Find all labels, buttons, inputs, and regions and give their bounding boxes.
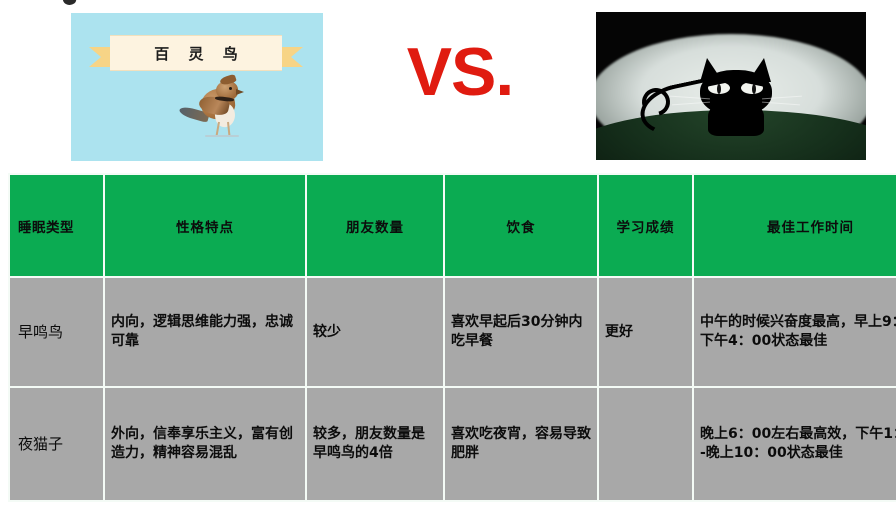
cell-best-hours: 晚上6：00左右最高效，下午1：00-晚上10：00状态最佳 bbox=[693, 387, 896, 501]
banner-plate: 百 灵 鸟 bbox=[110, 35, 282, 71]
stray-ink-mark bbox=[62, 0, 77, 6]
versus-label: VS. bbox=[395, 38, 525, 106]
column-header-sleep-type: 睡眠类型 bbox=[9, 174, 104, 277]
cat-pupil-right-icon bbox=[752, 84, 756, 94]
table-row: 早鸣鸟 内向，逻辑思维能力强，忠诚可靠 较少 喜欢早起后30分钟内吃早餐 更好 … bbox=[9, 277, 896, 387]
table-row: 夜猫子 外向，信奉享乐主义，富有创造力，精神容易混乱 较多，朋友数量是早鸣鸟的4… bbox=[9, 387, 896, 501]
cell-sleep-type: 夜猫子 bbox=[9, 387, 104, 501]
comparison-hero: 百 灵 鸟 VS. bbox=[0, 0, 896, 168]
cat-head-icon bbox=[700, 70, 772, 116]
cell-traits: 内向，逻辑思维能力强，忠诚可靠 bbox=[104, 277, 306, 387]
lark-image-card: 百 灵 鸟 bbox=[71, 13, 323, 161]
cell-friend-count: 较少 bbox=[306, 277, 444, 387]
cell-best-hours-text: 晚上6：00左右最高效，下午1：00-晚上10：00状态最佳 bbox=[700, 425, 896, 463]
cat-pupil-left-icon bbox=[717, 84, 721, 94]
cell-traits: 外向，信奉享乐主义，富有创造力，精神容易混乱 bbox=[104, 387, 306, 501]
cell-grades: 更好 bbox=[598, 277, 693, 387]
cell-diet: 喜欢吃夜宵，容易导致肥胖 bbox=[444, 387, 598, 501]
lark-banner-label: 百 灵 鸟 bbox=[147, 43, 244, 64]
cell-grades bbox=[598, 387, 693, 501]
sleep-type-comparison-table: 睡眠类型 性格特点 朋友数量 饮食 学习成绩 最佳工作时间 早鸣鸟 内向，逻辑思… bbox=[8, 173, 896, 502]
column-header-grades: 学习成绩 bbox=[598, 174, 693, 277]
column-header-best-hours: 最佳工作时间 bbox=[693, 174, 896, 277]
banner-ribbon: 百 灵 鸟 bbox=[89, 35, 303, 69]
cell-diet: 喜欢早起后30分钟内吃早餐 bbox=[444, 277, 598, 387]
column-header-friend-count: 朋友数量 bbox=[306, 174, 444, 277]
table-body: 早鸣鸟 内向，逻辑思维能力强，忠诚可靠 较少 喜欢早起后30分钟内吃早餐 更好 … bbox=[9, 277, 896, 501]
table-header: 睡眠类型 性格特点 朋友数量 饮食 学习成绩 最佳工作时间 bbox=[9, 174, 896, 277]
cell-sleep-type: 早鸣鸟 bbox=[9, 277, 104, 387]
table-header-row: 睡眠类型 性格特点 朋友数量 饮食 学习成绩 最佳工作时间 bbox=[9, 174, 896, 277]
lark-bird-icon bbox=[179, 75, 257, 145]
column-header-diet: 饮食 bbox=[444, 174, 598, 277]
column-header-traits: 性格特点 bbox=[104, 174, 306, 277]
cell-best-hours: 中午的时候兴奋度最高，早上9：00-下午4：00状态最佳 bbox=[693, 277, 896, 387]
cell-best-hours-text: 中午的时候兴奋度最高，早上9：00-下午4：00状态最佳 bbox=[700, 313, 896, 351]
night-cat-image-card bbox=[596, 12, 866, 160]
cell-friend-count: 较多，朋友数量是早鸣鸟的4倍 bbox=[306, 387, 444, 501]
